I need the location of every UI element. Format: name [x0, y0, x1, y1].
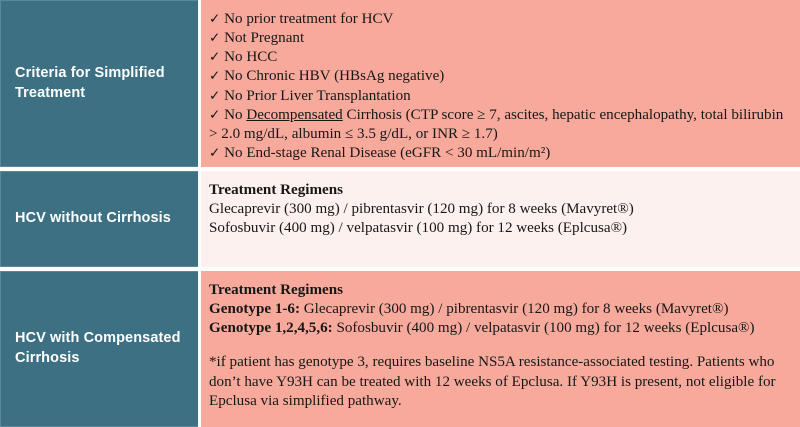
criteria-item: ✓ No HCC — [209, 48, 790, 67]
treatment-regimens-heading: Treatment Regimens — [209, 181, 790, 200]
check-icon: ✓ — [209, 145, 220, 161]
treatment-regimens-cell-no-cirrhosis: Treatment Regimens Glecaprevir (300 mg) … — [201, 171, 800, 267]
row-label-text: HCV with Compensated Cirrhosis — [15, 329, 186, 368]
criteria-item-text: No HCC — [224, 49, 277, 65]
criteria-item-text: Not Pregnant — [224, 30, 304, 46]
check-icon: ✓ — [209, 68, 220, 84]
treatment-regimens-heading: Treatment Regimens — [209, 281, 790, 300]
regimen-line: Sofosbuvir (400 mg) / velpatasvir (100 m… — [209, 219, 790, 238]
genotype-label: Genotype 1,2,4,5,6: — [209, 320, 333, 336]
check-icon: ✓ — [209, 11, 220, 27]
criteria-item-esrd: ✓ No End-stage Renal Disease (eGFR < 30 … — [209, 144, 790, 163]
row-label-text: Criteria for Simplified Treatment — [15, 64, 186, 103]
criteria-item: ✓ No Prior Liver Transplantation — [209, 87, 790, 106]
criteria-item-text: No prior treatment for HCV — [224, 11, 393, 27]
criteria-item-text: No End-stage Renal Disease (eGFR < 30 mL… — [224, 145, 550, 161]
decompensated-prefix: No — [224, 107, 246, 123]
criteria-item-decompensated: ✓ No Decompensated Cirrhosis (CTP score … — [209, 106, 790, 144]
decompensated-underlined-term: Decompensated — [246, 107, 342, 123]
check-icon: ✓ — [209, 30, 220, 46]
genotype-3-footnote: *if patient has genotype 3, requires bas… — [209, 353, 790, 410]
hcv-simplified-treatment-table: Criteria for Simplified Treatment ✓ No p… — [0, 0, 800, 427]
regimen-line: Glecaprevir (300 mg) / pibrentasvir (120… — [209, 200, 790, 219]
check-icon: ✓ — [209, 107, 220, 123]
criteria-item-text: No Chronic HBV (HBsAg negative) — [224, 68, 444, 84]
criteria-list-cell: ✓ No prior treatment for HCV ✓ Not Pregn… — [201, 0, 800, 167]
row-label-hcv-with-compensated-cirrhosis: HCV with Compensated Cirrhosis — [0, 271, 198, 427]
table-row-hcv-with-compensated-cirrhosis: HCV with Compensated Cirrhosis Treatment… — [0, 267, 800, 427]
genotype-regimen-text: Sofosbuvir (400 mg) / velpatasvir (100 m… — [333, 320, 755, 336]
table-row-hcv-without-cirrhosis: HCV without Cirrhosis Treatment Regimens… — [0, 167, 800, 267]
row-label-criteria-for-simplified-treatment: Criteria for Simplified Treatment — [0, 0, 198, 167]
criteria-item: ✓ No prior treatment for HCV — [209, 10, 790, 29]
criteria-item-text: No Prior Liver Transplantation — [224, 88, 411, 104]
table-row-criteria: Criteria for Simplified Treatment ✓ No p… — [0, 0, 800, 167]
genotype-regimen-text: Glecaprevir (300 mg) / pibrentasvir (120… — [300, 301, 729, 317]
check-icon: ✓ — [209, 88, 220, 104]
check-icon: ✓ — [209, 49, 220, 65]
row-label-text: HCV without Cirrhosis — [15, 209, 171, 229]
paragraph-spacer — [209, 338, 790, 353]
row-label-hcv-without-cirrhosis: HCV without Cirrhosis — [0, 171, 198, 267]
genotype-label: Genotype 1-6: — [209, 301, 300, 317]
criteria-item: ✓ No Chronic HBV (HBsAg negative) — [209, 67, 790, 86]
genotype-regimen-line: Genotype 1,2,4,5,6: Sofosbuvir (400 mg) … — [209, 319, 790, 338]
treatment-regimens-cell-compensated-cirrhosis: Treatment Regimens Genotype 1-6: Glecapr… — [201, 271, 800, 427]
criteria-item: ✓ Not Pregnant — [209, 29, 790, 48]
genotype-regimen-line: Genotype 1-6: Glecaprevir (300 mg) / pib… — [209, 300, 790, 319]
